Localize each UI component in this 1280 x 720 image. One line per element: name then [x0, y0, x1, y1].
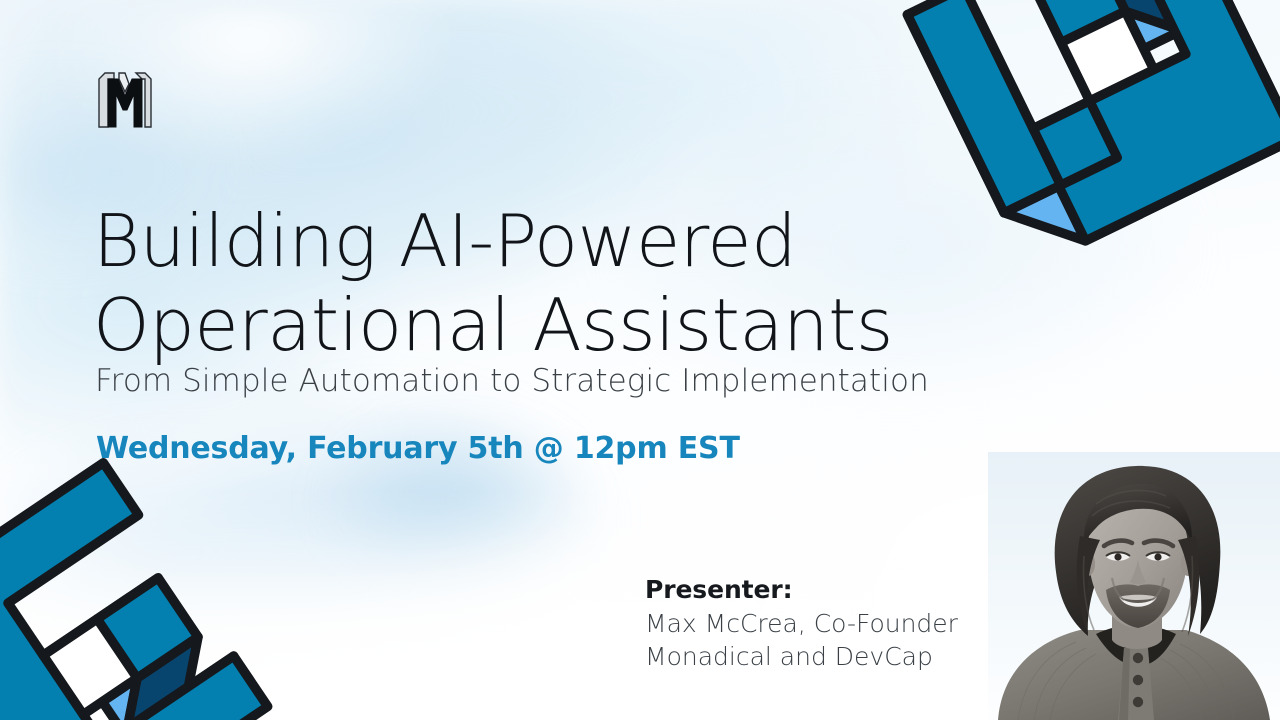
- presenter-companies: Monadical and DevCap: [645, 640, 958, 673]
- presentation-slide: Building AI-Powered Operational Assistan…: [0, 0, 1280, 720]
- subtitle: From Simple Automation to Strategic Impl…: [95, 363, 929, 400]
- page-title: Building AI-Powered Operational Assistan…: [93, 200, 913, 367]
- event-datetime: Wednesday, February 5th @ 12pm EST: [96, 431, 740, 467]
- presenter-label: Presenter:: [645, 573, 958, 607]
- headline-line-2: Operational Assistants: [93, 284, 913, 368]
- monadical-m-logo-icon: [96, 70, 154, 130]
- presenter-block: Presenter: Max McCrea, Co-Founder Monadi…: [645, 573, 958, 673]
- presenter-name-role: Max McCrea, Co-Founder: [645, 607, 958, 640]
- avatar: [988, 452, 1280, 720]
- headline-line-1: Building AI-Powered: [93, 200, 913, 284]
